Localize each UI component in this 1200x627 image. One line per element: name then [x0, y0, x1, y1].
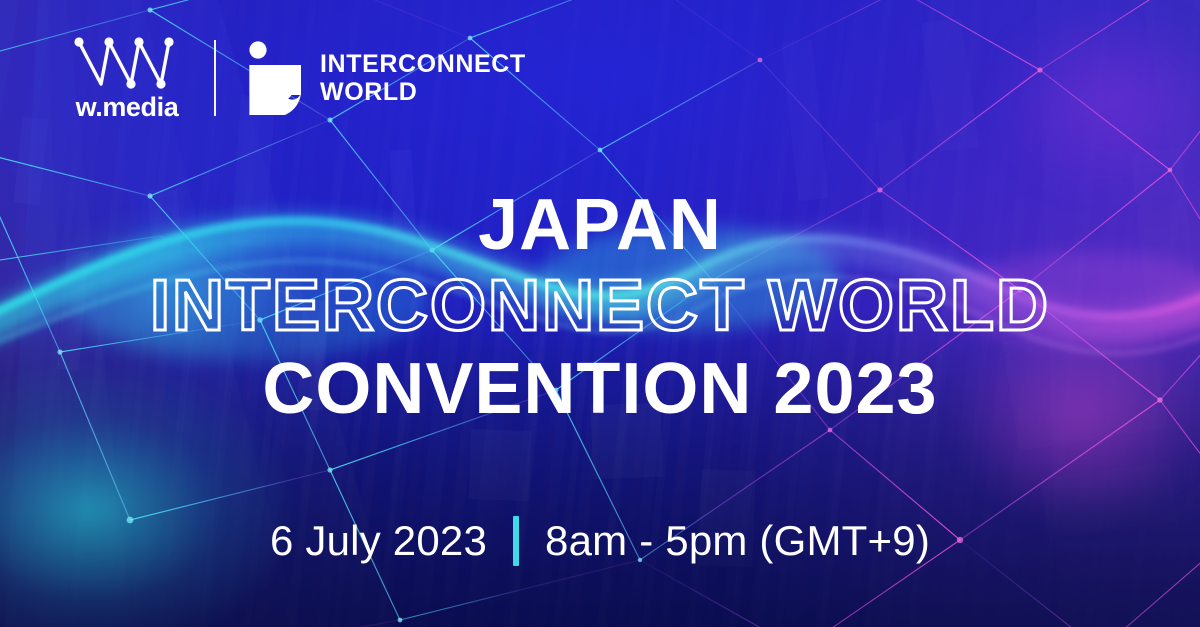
interconnect-world-wordmark: INTERCONNECT WORLD [320, 50, 526, 106]
logo-divider-icon [214, 40, 216, 116]
event-time: 8am - 5pm (GMT+9) [545, 517, 930, 565]
headline-line-convention: CONVENTION 2023 [0, 348, 1200, 430]
banner-content: w.media INTERCONNECT WORLD JAPAN [0, 0, 1200, 627]
headline-block: JAPAN INTERCONNECT WORLD CONVENTION 2023 [0, 186, 1200, 430]
headline-line-interconnect-world: INTERCONNECT WORLD [0, 264, 1200, 348]
iu-monogram-icon [246, 41, 304, 115]
vertical-bar-icon [513, 516, 519, 566]
iw-line-1: INTERCONNECT [320, 50, 526, 78]
event-datetime: 6 July 2023 8am - 5pm (GMT+9) [0, 516, 1200, 566]
event-date: 6 July 2023 [270, 517, 487, 565]
wmedia-wordmark: w.media [76, 94, 179, 121]
interconnect-world-logo[interactable]: INTERCONNECT WORLD [246, 41, 526, 115]
zigzag-wave-icon [71, 34, 183, 90]
wmedia-logo[interactable]: w.media [68, 34, 186, 121]
logo-bar: w.media INTERCONNECT WORLD [68, 34, 526, 121]
event-banner: w.media INTERCONNECT WORLD JAPAN [0, 0, 1200, 627]
headline-line-japan: JAPAN [0, 186, 1200, 264]
iw-line-2: WORLD [320, 78, 526, 106]
